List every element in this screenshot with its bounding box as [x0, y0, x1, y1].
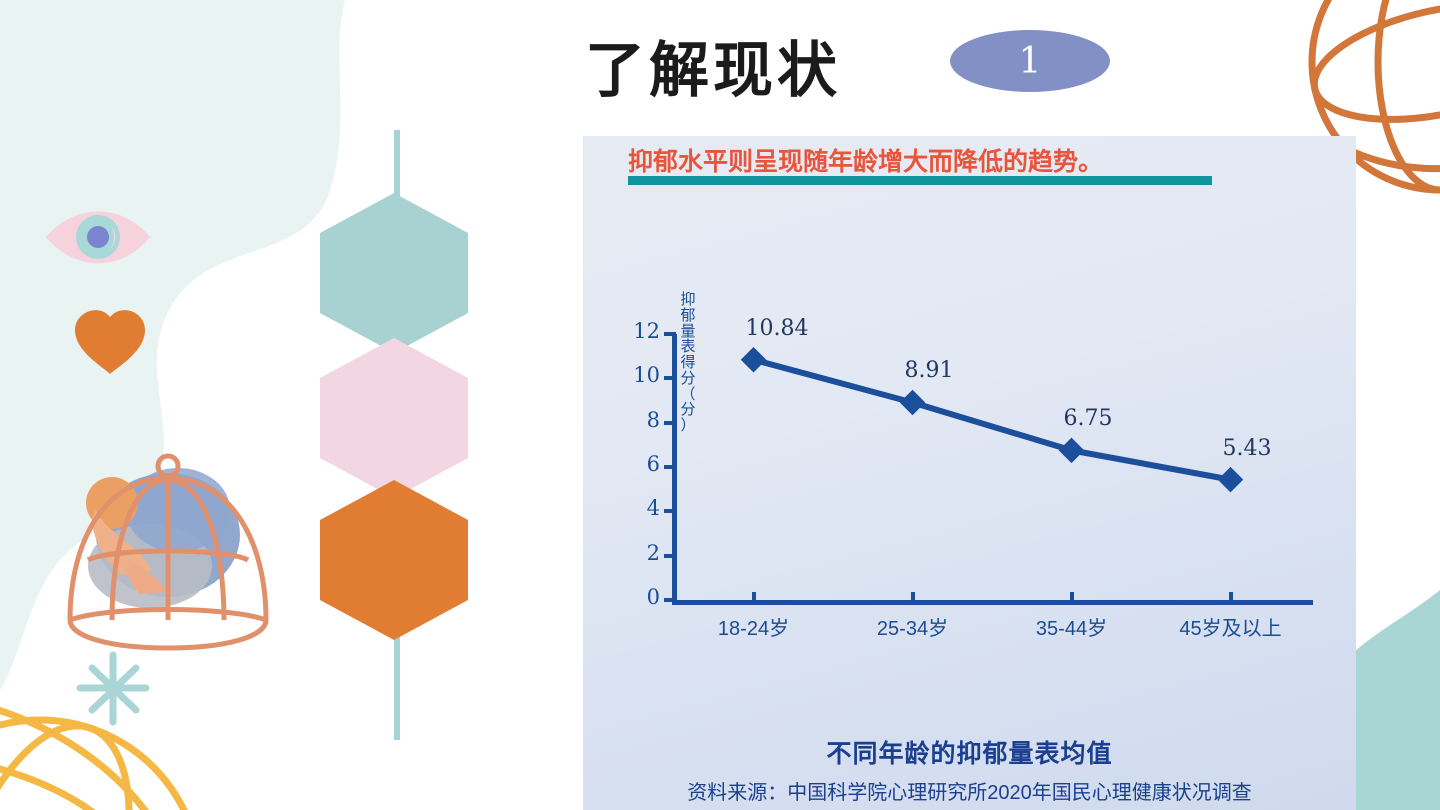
person-in-cage-illustration — [70, 456, 266, 648]
data-point-label: 10.84 — [746, 316, 809, 341]
data-point-marker — [1218, 467, 1243, 492]
data-point-label: 5.43 — [1223, 436, 1272, 461]
line-chart: 抑郁量表得分（分） 02468101218-24岁25-34岁35-44岁45岁… — [583, 216, 1356, 716]
globe-wireframe-bottom-left — [0, 700, 200, 810]
data-point-label: 8.91 — [905, 358, 954, 383]
data-point-marker — [741, 347, 766, 372]
sparkle-star-icon — [80, 655, 146, 722]
panel-headline: 抑郁水平则呈现随年龄增大而降低的趋势。 — [628, 142, 1103, 178]
data-point-label: 6.75 — [1064, 406, 1113, 431]
chart-series — [583, 216, 1356, 716]
chart-source: 资料来源：中国科学院心理研究所2020年国民心理健康状况调查 — [583, 776, 1356, 805]
page-title: 了解现状 — [585, 22, 841, 109]
headline-underline — [628, 176, 1212, 185]
chart-title: 不同年龄的抑郁量表均值 — [583, 734, 1356, 770]
data-point-marker — [1059, 438, 1084, 463]
series-line — [754, 360, 1231, 480]
slide-canvas: 了解现状 1 抑郁水平则呈现随年龄增大而降低的趋势。 抑郁量表得分（分） 024… — [0, 0, 1440, 810]
step-badge: 1 — [950, 30, 1110, 100]
badge-number: 1 — [950, 30, 1110, 92]
content-panel: 抑郁水平则呈现随年龄增大而降低的趋势。 抑郁量表得分（分） 0246810121… — [583, 136, 1356, 810]
data-point-marker — [900, 390, 925, 415]
